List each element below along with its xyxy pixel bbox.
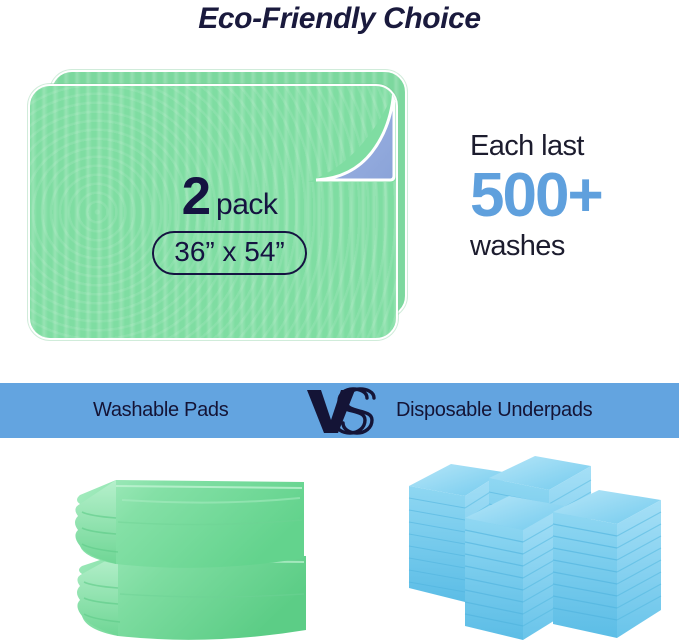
size-badge: 36” x 54”: [152, 231, 307, 275]
folded-corner-icon: [300, 86, 396, 182]
comparison-left-label: Washable Pads: [93, 399, 228, 422]
wash-count-stat: Each last 500+ washes: [470, 130, 670, 264]
stat-bottom-line: washes: [470, 229, 670, 264]
page-title: Eco-Friendly Choice: [0, 2, 679, 36]
pad-front-layer: 2 pack 36” x 54”: [28, 84, 398, 340]
washable-pads-image: [58, 470, 308, 644]
comparison-right-label: Disposable Underpads: [396, 399, 592, 422]
stat-top-line: Each last: [470, 130, 670, 163]
vs-icon: [305, 386, 381, 436]
pack-count-number: 2: [182, 172, 209, 222]
pack-count-line: 2 pack: [122, 172, 337, 222]
pad-illustration: 2 pack 36” x 54”: [28, 70, 413, 340]
stat-big-value: 500+: [470, 165, 670, 227]
disposable-underpads-image: [385, 450, 679, 644]
pad-label-group: 2 pack 36” x 54”: [122, 172, 337, 275]
pack-count-word: pack: [216, 188, 277, 222]
infographic-page: Eco-Friendly Choice: [0, 0, 679, 644]
